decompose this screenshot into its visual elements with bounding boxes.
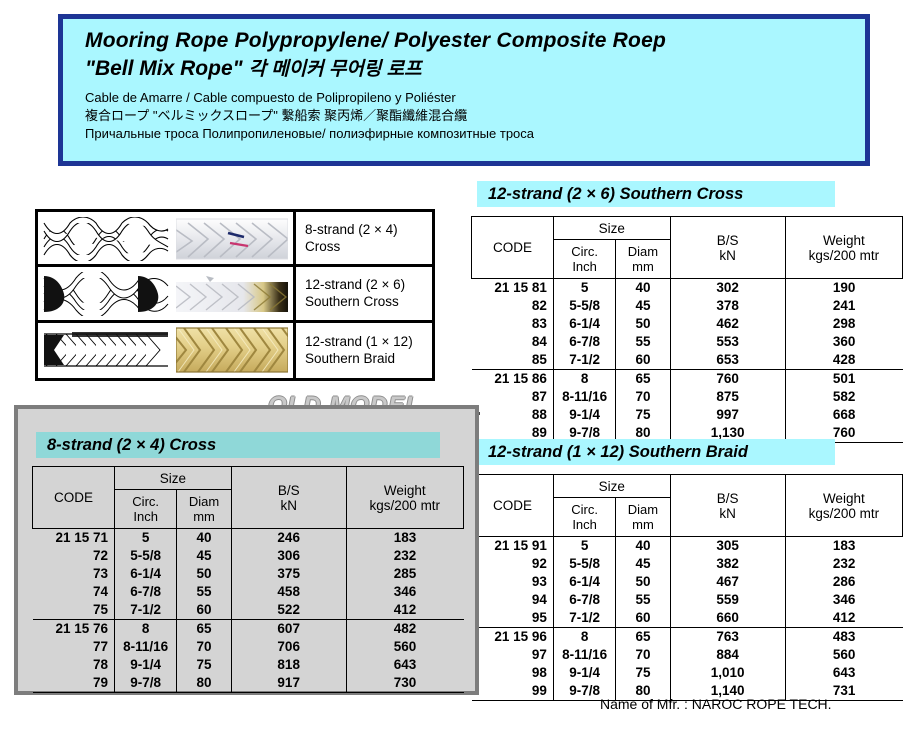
table-body-southern-braid: 21 15 91540305183925-5/845382232936-1/45… <box>472 537 903 701</box>
table-row: 825-5/845378241 <box>472 297 903 315</box>
cell-diam: 55 <box>616 333 670 351</box>
table-body-8strand-cross: 21 15 71540246183725-5/845306232736-1/45… <box>33 529 464 693</box>
table-row: 978-11/1670884560 <box>472 646 903 664</box>
cell-weight: 241 <box>785 297 902 315</box>
cell-bs: 760 <box>670 370 785 389</box>
cell-circ: 6-7/8 <box>553 333 615 351</box>
cell-weight: 730 <box>346 674 463 693</box>
cell-bs: 559 <box>670 591 785 609</box>
white-gold-rope-photo <box>176 270 288 318</box>
cell-diam: 45 <box>616 297 670 315</box>
col-size: Size <box>553 217 670 240</box>
col-diam-unit: mm <box>616 517 669 532</box>
table-row: 21 15 76865607482 <box>33 620 464 639</box>
cell-diam: 40 <box>616 279 670 298</box>
cell-code: 21 15 96 <box>472 628 554 647</box>
cell-weight: 190 <box>785 279 902 298</box>
cell-weight: 346 <box>785 591 902 609</box>
table-row: 757-1/260522412 <box>33 601 464 620</box>
table-row: 936-1/450467286 <box>472 573 903 591</box>
col-circ: Circ. Inch <box>115 490 177 529</box>
cell-diam: 40 <box>616 537 670 556</box>
table-head: CODE Size B/S kN Weight kgs/200 mtr Circ… <box>33 467 464 529</box>
table-body-southern-cross: 21 15 81540302190825-5/845378241836-1/45… <box>472 279 903 443</box>
cell-weight: 286 <box>785 573 902 591</box>
table-row: 21 15 86865760501 <box>472 370 903 389</box>
table-row: 989-1/4751,010643 <box>472 664 903 682</box>
col-diam-label: Diam <box>177 494 230 509</box>
col-weight-label: Weight <box>786 233 902 248</box>
cell-code: 98 <box>472 664 554 682</box>
cell-weight: 346 <box>346 583 463 601</box>
table-8strand-cross: CODE Size B/S kN Weight kgs/200 mtr Circ… <box>32 466 464 693</box>
legend-label-12strand-cross: 12-strand (2 × 6) Southern Cross <box>296 267 432 319</box>
cell-circ: 8-11/16 <box>553 646 615 664</box>
section-title-8strand-cross: 8-strand (2 × 4) Cross <box>36 432 440 458</box>
cell-bs: 382 <box>670 555 785 573</box>
cell-code: 75 <box>33 601 115 620</box>
cell-weight: 298 <box>785 315 902 333</box>
col-bs: B/S kN <box>670 217 785 279</box>
cell-diam: 45 <box>616 555 670 573</box>
cell-weight: 483 <box>785 628 902 647</box>
col-bs-unit: kN <box>671 248 785 263</box>
cell-weight: 285 <box>346 565 463 583</box>
cell-circ: 6-1/4 <box>553 315 615 333</box>
cell-diam: 65 <box>616 370 670 389</box>
legend-label-line2: Cross <box>305 238 432 255</box>
legend-label-line1: 12-strand (1 × 12) <box>305 333 432 350</box>
cell-bs: 607 <box>231 620 346 639</box>
cell-weight: 560 <box>785 646 902 664</box>
white-rope-photo <box>176 215 288 263</box>
cell-circ: 5 <box>553 279 615 298</box>
col-weight-label: Weight <box>786 491 902 506</box>
cell-bs: 875 <box>670 388 785 406</box>
cell-diam: 75 <box>177 656 231 674</box>
cell-code: 78 <box>33 656 115 674</box>
col-weight-unit: kgs/200 mtr <box>347 498 463 513</box>
section-title-southern-cross: 12-strand (2 × 6) Southern Cross <box>477 181 835 207</box>
col-diam: Diam mm <box>177 490 231 529</box>
cell-bs: 553 <box>670 333 785 351</box>
banner-title-kr: 각 메이커 무어링 로프 <box>248 59 421 80</box>
cell-bs: 522 <box>231 601 346 620</box>
cell-circ: 6-1/4 <box>553 573 615 591</box>
cell-diam: 70 <box>616 388 670 406</box>
cell-diam: 65 <box>177 620 231 639</box>
cell-weight: 582 <box>785 388 902 406</box>
legend-row: 12-strand (2 × 6) Southern Cross <box>38 267 432 322</box>
cell-circ: 5 <box>553 537 615 556</box>
legend-row: 8-strand (2 × 4) Cross <box>38 212 432 267</box>
col-weight-unit: kgs/200 mtr <box>786 248 902 263</box>
cell-diam: 70 <box>177 638 231 656</box>
legend-image-cell <box>38 267 296 319</box>
cell-weight: 232 <box>346 547 463 565</box>
cell-circ: 6-7/8 <box>115 583 177 601</box>
cell-circ: 6-1/4 <box>115 565 177 583</box>
col-bs: B/S kN <box>670 475 785 537</box>
col-weight-label: Weight <box>347 483 463 498</box>
table-row: 925-5/845382232 <box>472 555 903 573</box>
col-weight: Weight kgs/200 mtr <box>785 475 902 537</box>
legend-label-line2: Southern Braid <box>305 350 432 367</box>
table-head: CODE Size B/S kN Weight kgs/200 mtr Circ… <box>472 475 903 537</box>
cell-diam: 55 <box>616 591 670 609</box>
table-row: 21 15 81540302190 <box>472 279 903 298</box>
cell-diam: 50 <box>616 315 670 333</box>
col-bs-label: B/S <box>671 491 785 506</box>
col-diam: Diam mm <box>616 240 670 279</box>
cell-code: 77 <box>33 638 115 656</box>
table-row: 21 15 96865763483 <box>472 628 903 647</box>
table-row: 846-7/855553360 <box>472 333 903 351</box>
header-banner: Mooring Rope Polypropylene/ Polyester Co… <box>58 14 870 166</box>
col-bs: B/S kN <box>231 467 346 529</box>
col-weight: Weight kgs/200 mtr <box>346 467 463 529</box>
cell-weight: 482 <box>346 620 463 639</box>
cell-circ: 9-1/4 <box>553 664 615 682</box>
cell-bs: 246 <box>231 529 346 548</box>
cell-bs: 706 <box>231 638 346 656</box>
col-circ-unit: Inch <box>554 517 615 532</box>
cell-bs: 917 <box>231 674 346 693</box>
cell-circ: 6-7/8 <box>553 591 615 609</box>
cell-code: 21 15 71 <box>33 529 115 548</box>
col-circ-label: Circ. <box>115 494 176 509</box>
cell-circ: 8 <box>553 370 615 389</box>
col-weight-unit: kgs/200 mtr <box>786 506 902 521</box>
table-southern-cross: CODE Size B/S kN Weight kgs/200 mtr Circ… <box>471 216 903 443</box>
table-row: 778-11/1670706560 <box>33 638 464 656</box>
cell-code: 21 15 76 <box>33 620 115 639</box>
legend-row: 12-strand (1 × 12) Southern Braid <box>38 323 432 378</box>
cell-circ: 5-5/8 <box>553 297 615 315</box>
cell-code: 79 <box>33 674 115 693</box>
cell-weight: 412 <box>785 609 902 628</box>
cell-code: 87 <box>472 388 554 406</box>
col-bs-label: B/S <box>232 483 346 498</box>
cell-circ: 8 <box>553 628 615 647</box>
cell-weight: 668 <box>785 406 902 424</box>
col-circ: Circ. Inch <box>553 498 615 537</box>
cell-bs: 378 <box>670 297 785 315</box>
table-southern-braid: CODE Size B/S kN Weight kgs/200 mtr Circ… <box>471 474 903 701</box>
gold-rope-photo <box>176 326 288 374</box>
catalog-page: Mooring Rope Polypropylene/ Polyester Co… <box>0 0 918 740</box>
cell-weight: 183 <box>346 529 463 548</box>
manufacturer-footer: Name of Mfr. : NAROC ROPE TECH. <box>600 696 832 712</box>
table-row: 857-1/260653428 <box>472 351 903 370</box>
cell-code: 94 <box>472 591 554 609</box>
cell-diam: 80 <box>177 674 231 693</box>
cell-code: 21 15 81 <box>472 279 554 298</box>
cell-diam: 60 <box>616 609 670 628</box>
cell-code: 85 <box>472 351 554 370</box>
cell-bs: 884 <box>670 646 785 664</box>
cell-code: 93 <box>472 573 554 591</box>
banner-subtitle-russian: Причальные троса Полипропиленовые/ полиэ… <box>85 125 865 143</box>
8-strand-cross-diagram <box>42 217 170 261</box>
cell-code: 21 15 86 <box>472 370 554 389</box>
cell-diam: 65 <box>616 628 670 647</box>
cell-bs: 818 <box>231 656 346 674</box>
cell-code: 99 <box>472 682 554 701</box>
cell-bs: 1,010 <box>670 664 785 682</box>
col-circ-unit: Inch <box>115 509 176 524</box>
cell-circ: 8 <box>115 620 177 639</box>
table-head: CODE Size B/S kN Weight kgs/200 mtr Circ… <box>472 217 903 279</box>
cell-weight: 428 <box>785 351 902 370</box>
cell-bs: 375 <box>231 565 346 583</box>
table-row: 878-11/1670875582 <box>472 388 903 406</box>
cell-weight: 643 <box>785 664 902 682</box>
cell-circ: 9-7/8 <box>115 674 177 693</box>
cell-bs: 997 <box>670 406 785 424</box>
cell-diam: 55 <box>177 583 231 601</box>
col-circ-label: Circ. <box>554 502 615 517</box>
col-bs-unit: kN <box>671 506 785 521</box>
cell-circ: 9-1/4 <box>553 406 615 424</box>
banner-title-line2: "Bell Mix Rope" 각 메이커 무어링 로프 <box>85 54 865 85</box>
banner-title-en: "Bell Mix Rope" <box>85 57 243 80</box>
col-diam-unit: mm <box>616 259 669 274</box>
cell-bs: 467 <box>670 573 785 591</box>
col-bs-label: B/S <box>671 233 785 248</box>
cell-code: 82 <box>472 297 554 315</box>
12-strand-southern-braid-diagram <box>42 328 170 372</box>
table-row: 889-1/475997668 <box>472 406 903 424</box>
cell-circ: 5-5/8 <box>553 555 615 573</box>
cell-circ: 8-11/16 <box>553 388 615 406</box>
cell-bs: 763 <box>670 628 785 647</box>
cell-circ: 7-1/2 <box>553 609 615 628</box>
col-size: Size <box>115 467 232 490</box>
cell-diam: 75 <box>616 664 670 682</box>
rope-type-legend: 8-strand (2 × 4) Cross <box>35 209 435 381</box>
legend-label-line2: Southern Cross <box>305 293 432 310</box>
cell-diam: 40 <box>177 529 231 548</box>
cell-code: 72 <box>33 547 115 565</box>
col-code: CODE <box>33 467 115 529</box>
cell-circ: 5-5/8 <box>115 547 177 565</box>
col-diam-label: Diam <box>616 502 669 517</box>
table-row: 21 15 91540305183 <box>472 537 903 556</box>
col-code: CODE <box>472 217 554 279</box>
col-size: Size <box>553 475 670 498</box>
cell-code: 84 <box>472 333 554 351</box>
cell-bs: 458 <box>231 583 346 601</box>
col-circ-unit: Inch <box>554 259 615 274</box>
cell-circ: 8-11/16 <box>115 638 177 656</box>
cell-weight: 501 <box>785 370 902 389</box>
cell-diam: 60 <box>177 601 231 620</box>
cell-weight: 412 <box>346 601 463 620</box>
cell-diam: 50 <box>616 573 670 591</box>
col-weight: Weight kgs/200 mtr <box>785 217 902 279</box>
col-diam: Diam mm <box>616 498 670 537</box>
banner-title-line1: Mooring Rope Polypropylene/ Polyester Co… <box>85 27 865 54</box>
cell-code: 95 <box>472 609 554 628</box>
table-row: 736-1/450375285 <box>33 565 464 583</box>
cell-code: 73 <box>33 565 115 583</box>
legend-label-8strand: 8-strand (2 × 4) Cross <box>296 212 432 264</box>
cell-weight: 183 <box>785 537 902 556</box>
banner-subtitle-japanese: 複合ロープ "ベルミックスロープ" 繫船索 聚丙烯／聚酯纖維混合纜 <box>85 107 865 125</box>
cell-code: 74 <box>33 583 115 601</box>
cell-circ: 9-1/4 <box>115 656 177 674</box>
cell-diam: 60 <box>616 351 670 370</box>
legend-label-line1: 8-strand (2 × 4) <box>305 221 432 238</box>
table-row: 789-1/475818643 <box>33 656 464 674</box>
cell-diam: 70 <box>616 646 670 664</box>
cell-bs: 302 <box>670 279 785 298</box>
col-diam-unit: mm <box>177 509 230 524</box>
cell-weight: 643 <box>346 656 463 674</box>
cell-bs: 306 <box>231 547 346 565</box>
legend-image-cell <box>38 323 296 378</box>
banner-subtitle-spanish: Cable de Amarre / Cable compuesto de Pol… <box>85 89 865 107</box>
cell-weight: 360 <box>785 333 902 351</box>
cell-bs: 660 <box>670 609 785 628</box>
cell-bs: 653 <box>670 351 785 370</box>
legend-label-line1: 12-strand (2 × 6) <box>305 276 432 293</box>
table-row: 836-1/450462298 <box>472 315 903 333</box>
col-circ: Circ. Inch <box>553 240 615 279</box>
cell-diam: 45 <box>177 547 231 565</box>
table-row: 21 15 71540246183 <box>33 529 464 548</box>
col-bs-unit: kN <box>232 498 346 513</box>
cell-bs: 305 <box>670 537 785 556</box>
cell-weight: 232 <box>785 555 902 573</box>
table-row: 799-7/880917730 <box>33 674 464 693</box>
table-row: 746-7/855458346 <box>33 583 464 601</box>
section-title-southern-braid: 12-strand (1 × 12) Southern Braid <box>477 439 835 465</box>
cell-code: 88 <box>472 406 554 424</box>
col-diam-label: Diam <box>616 244 669 259</box>
cell-circ: 7-1/2 <box>553 351 615 370</box>
cell-code: 21 15 91 <box>472 537 554 556</box>
table-row: 957-1/260660412 <box>472 609 903 628</box>
cell-code: 83 <box>472 315 554 333</box>
col-code: CODE <box>472 475 554 537</box>
cell-circ: 5 <box>115 529 177 548</box>
cell-weight: 560 <box>346 638 463 656</box>
table-row: 946-7/855559346 <box>472 591 903 609</box>
cell-circ: 7-1/2 <box>115 601 177 620</box>
cell-bs: 462 <box>670 315 785 333</box>
col-circ-label: Circ. <box>554 244 615 259</box>
cell-diam: 75 <box>616 406 670 424</box>
cell-diam: 50 <box>177 565 231 583</box>
table-row: 725-5/845306232 <box>33 547 464 565</box>
legend-label-12strand-braid: 12-strand (1 × 12) Southern Braid <box>296 323 432 378</box>
cell-code: 97 <box>472 646 554 664</box>
12-strand-southern-cross-diagram <box>42 272 170 316</box>
legend-image-cell <box>38 212 296 264</box>
cell-code: 92 <box>472 555 554 573</box>
